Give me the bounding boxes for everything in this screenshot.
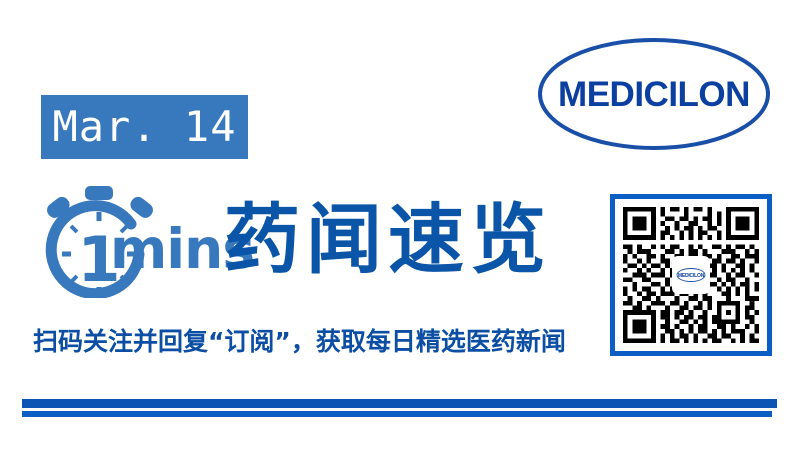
qr-center-logo: MEDICILON: [672, 256, 710, 294]
medicilon-logo: MEDICILON: [536, 36, 772, 152]
date-badge-label: Mar. 14: [52, 106, 236, 148]
footer-rule-thin: [22, 411, 772, 417]
medicilon-logo-text: MEDICILON: [558, 75, 750, 114]
poster-canvas: Mar. 14 MEDICILON: [0, 0, 800, 468]
headline-text: 药闻速览: [224, 202, 552, 278]
qr-center-logo-text: MEDICILON: [678, 273, 705, 279]
subtitle-text: 扫码关注并回复“订阅”，获取每日精选医药新闻: [33, 328, 566, 356]
date-badge: Mar. 14: [41, 95, 248, 159]
qr-code-block[interactable]: MEDICILON: [610, 194, 772, 356]
qr-code-image: MEDICILON: [623, 207, 759, 343]
footer-rule-thick: [22, 399, 777, 408]
